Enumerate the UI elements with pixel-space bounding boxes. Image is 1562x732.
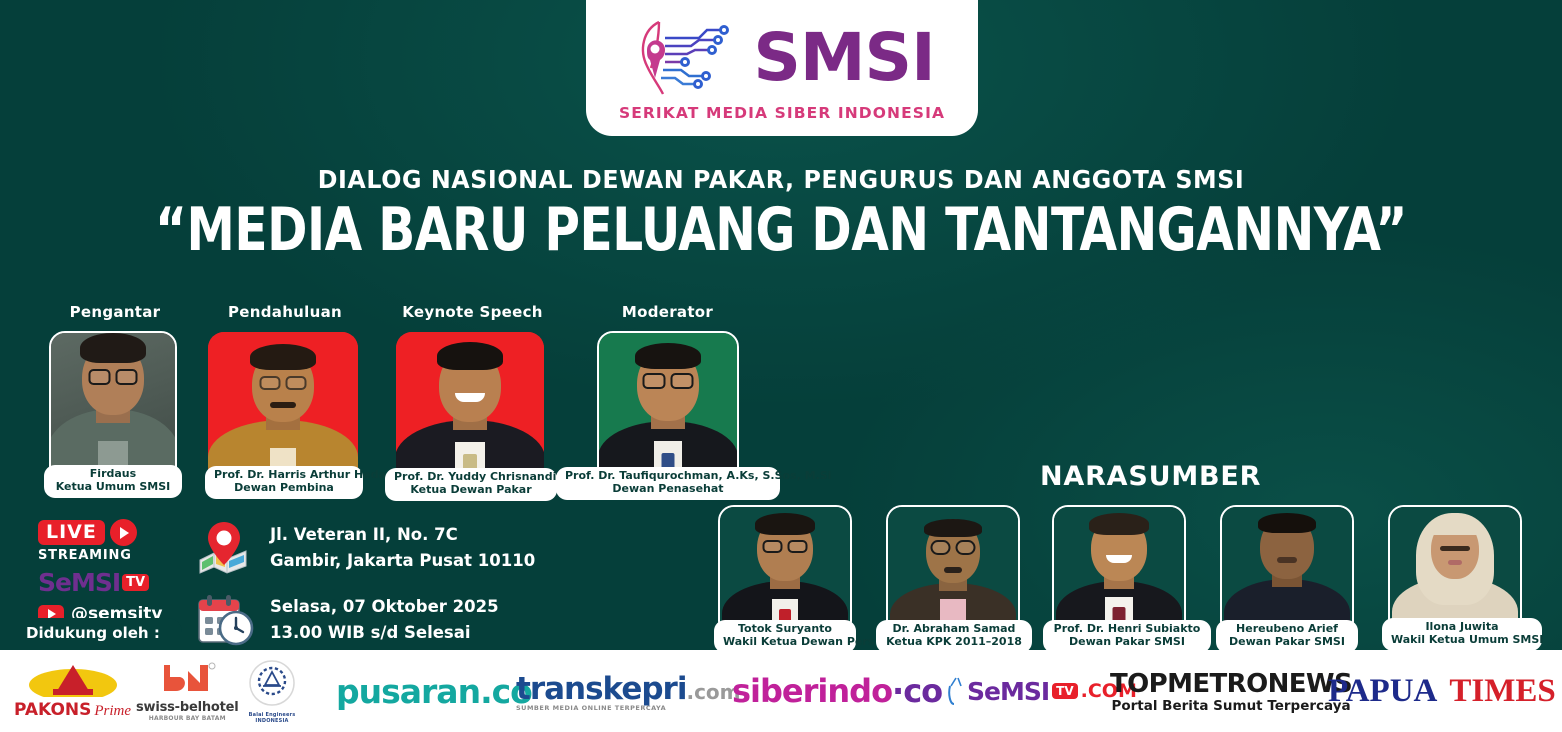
narasumber-heading: NARASUMBER	[1040, 461, 1261, 492]
sponsor-siberindo-suffix: ·co	[892, 672, 942, 710]
sponsor-swissbel-suffix: HARBOUR BAY BATAM	[136, 715, 239, 722]
role-label-pendahuluan: Pendahuluan	[205, 303, 365, 321]
sponsor-topmetronews: TOPMETRONEWS Portal Berita Sumut Terperc…	[1110, 650, 1352, 732]
live-streaming-block: LIVE STREAMING SeMSI TV @semsitv	[38, 519, 188, 624]
sponsor-transkepri-name: transkepri	[516, 671, 686, 707]
name-pill-harris: Prof. Dr. Harris Arthur Hedar Dewan Pemb…	[205, 466, 363, 499]
sponsor-balai: Balai Engineers INDONESIA	[248, 650, 296, 732]
logo-wordmark: SMSI	[753, 30, 934, 87]
streaming-label: STREAMING	[38, 548, 188, 563]
sponsor-semsitv: SeMSI TV .COM	[948, 650, 1137, 732]
sponsor-semsitv-name: SeMSI	[967, 677, 1049, 706]
sponsor-swissbel: swiss-belhotel HARBOUR BAY BATAM	[136, 650, 239, 732]
sponsor-label: Didukung oleh :	[0, 618, 182, 650]
sponsor-balai-name: Balai Engineers	[248, 712, 296, 718]
name-pill-yuddy: Prof. Dr. Yuddy Chrisnandi, M.E Ketua De…	[385, 468, 557, 501]
narasumber-photo-totok	[718, 505, 852, 637]
narasumber-photo-abraham	[886, 505, 1020, 637]
smsi-logo-card: SMSI SERIKAT MEDIA SIBER INDONESIA	[586, 0, 978, 136]
semsi-tv-logo: SeMSI TV	[38, 568, 188, 597]
narasumber-photo-hereubeno	[1220, 505, 1354, 637]
venue-row: Jl. Veteran II, No. 7C Gambir, Jakarta P…	[196, 520, 535, 576]
sponsor-pakons-name: PAKONS	[14, 700, 91, 720]
sponsor-transkepri-tagline: SUMBER MEDIA ONLINE TERPERCAYA	[516, 704, 741, 712]
sponsor-balai-suffix: INDONESIA	[248, 718, 296, 724]
sponsor-topmetronews-name: TOPMETRONEWS	[1110, 669, 1352, 699]
sponsor-swissbel-name: swiss-belhotel	[136, 700, 239, 715]
name-pill-ilona: Ilona Juwita Wakil Ketua Umum SMSI	[1382, 618, 1542, 651]
calendar-clock-icon	[196, 592, 254, 648]
name-pill-henri: Prof. Dr. Henri Subiakto Dewan Pakar SMS…	[1043, 620, 1211, 653]
sponsor-siberindo-name: siberindo	[732, 672, 892, 710]
name-pill-abraham: Dr. Abraham Samad Ketua KPK 2011–2018	[876, 620, 1032, 653]
pen-nib-circuit-icon	[629, 16, 747, 100]
semsi-wordmark: SeMSI	[38, 568, 120, 597]
live-badge-row: LIVE	[38, 519, 188, 546]
map-pin-icon	[196, 520, 254, 576]
speaker-photo-harris	[208, 332, 358, 482]
name-pill-taufiqurochman: Prof. Dr. Taufiqurochman, A.Ks, S.Sos, M…	[556, 467, 780, 500]
venue-text: Jl. Veteran II, No. 7C Gambir, Jakarta P…	[270, 522, 535, 573]
sponsor-pakons-suffix: Prime	[94, 703, 131, 720]
speaker-photo-taufiqurochman	[597, 331, 739, 483]
sponsor-semsitv-chip: TV	[1052, 683, 1077, 699]
live-badge: LIVE	[38, 520, 105, 545]
sponsor-transkepri: transkepri .com SUMBER MEDIA ONLINE TERP…	[516, 650, 741, 732]
sponsor-papuatimes-name: PAPUA	[1328, 673, 1437, 710]
sponsor-pusaran-name: pusaran	[336, 672, 480, 711]
sponsor-papuatimes-suffix: TIMES	[1449, 673, 1555, 710]
role-label-pengantar: Pengantar	[40, 303, 190, 321]
event-poster: SMSI SERIKAT MEDIA SIBER INDONESIA DIALO…	[0, 0, 1562, 732]
date-row: Selasa, 07 Oktober 2025 13.00 WIB s/d Se…	[196, 592, 535, 648]
sponsor-topmetronews-tagline: Portal Berita Sumut Terpercaya	[1110, 698, 1352, 714]
name-pill-totok: Totok Suryanto Wakil Ketua Dewan Pers	[714, 620, 856, 653]
event-headline: “MEDIA BARU PELUANG DAN TANTANGANNYA”	[78, 195, 1484, 265]
speaker-photo-yuddy	[396, 332, 544, 484]
tv-chip: TV	[122, 574, 149, 592]
name-pill-firdaus: Firdaus Ketua Umum SMSI	[44, 465, 182, 498]
play-icon	[110, 519, 137, 546]
narasumber-photo-henri	[1052, 505, 1186, 637]
date-text: Selasa, 07 Oktober 2025 13.00 WIB s/d Se…	[270, 594, 499, 645]
sponsor-bar: PAKONS Prime swiss-belhotel HARBOUR BAY …	[0, 650, 1562, 732]
role-label-keynote: Keynote Speech	[390, 303, 555, 321]
sponsor-pakons: PAKONS Prime	[14, 650, 131, 732]
sponsor-pusaran: pusaran .co	[336, 650, 532, 732]
sponsor-siberindo: siberindo ·co	[732, 650, 942, 732]
event-info-block: Jl. Veteran II, No. 7C Gambir, Jakarta P…	[196, 520, 535, 664]
role-label-moderator: Moderator	[590, 303, 745, 321]
speaker-photo-firdaus	[49, 331, 177, 483]
logo-tagline: SERIKAT MEDIA SIBER INDONESIA	[619, 104, 945, 122]
name-pill-hereubeno: Hereubeno Arief Dewan Pakar SMSI	[1216, 620, 1358, 653]
sponsor-papuatimes: PAPUA TIMES	[1328, 650, 1556, 732]
event-kicker: DIALOG NASIONAL DEWAN PAKAR, PENGURUS DA…	[39, 165, 1523, 194]
